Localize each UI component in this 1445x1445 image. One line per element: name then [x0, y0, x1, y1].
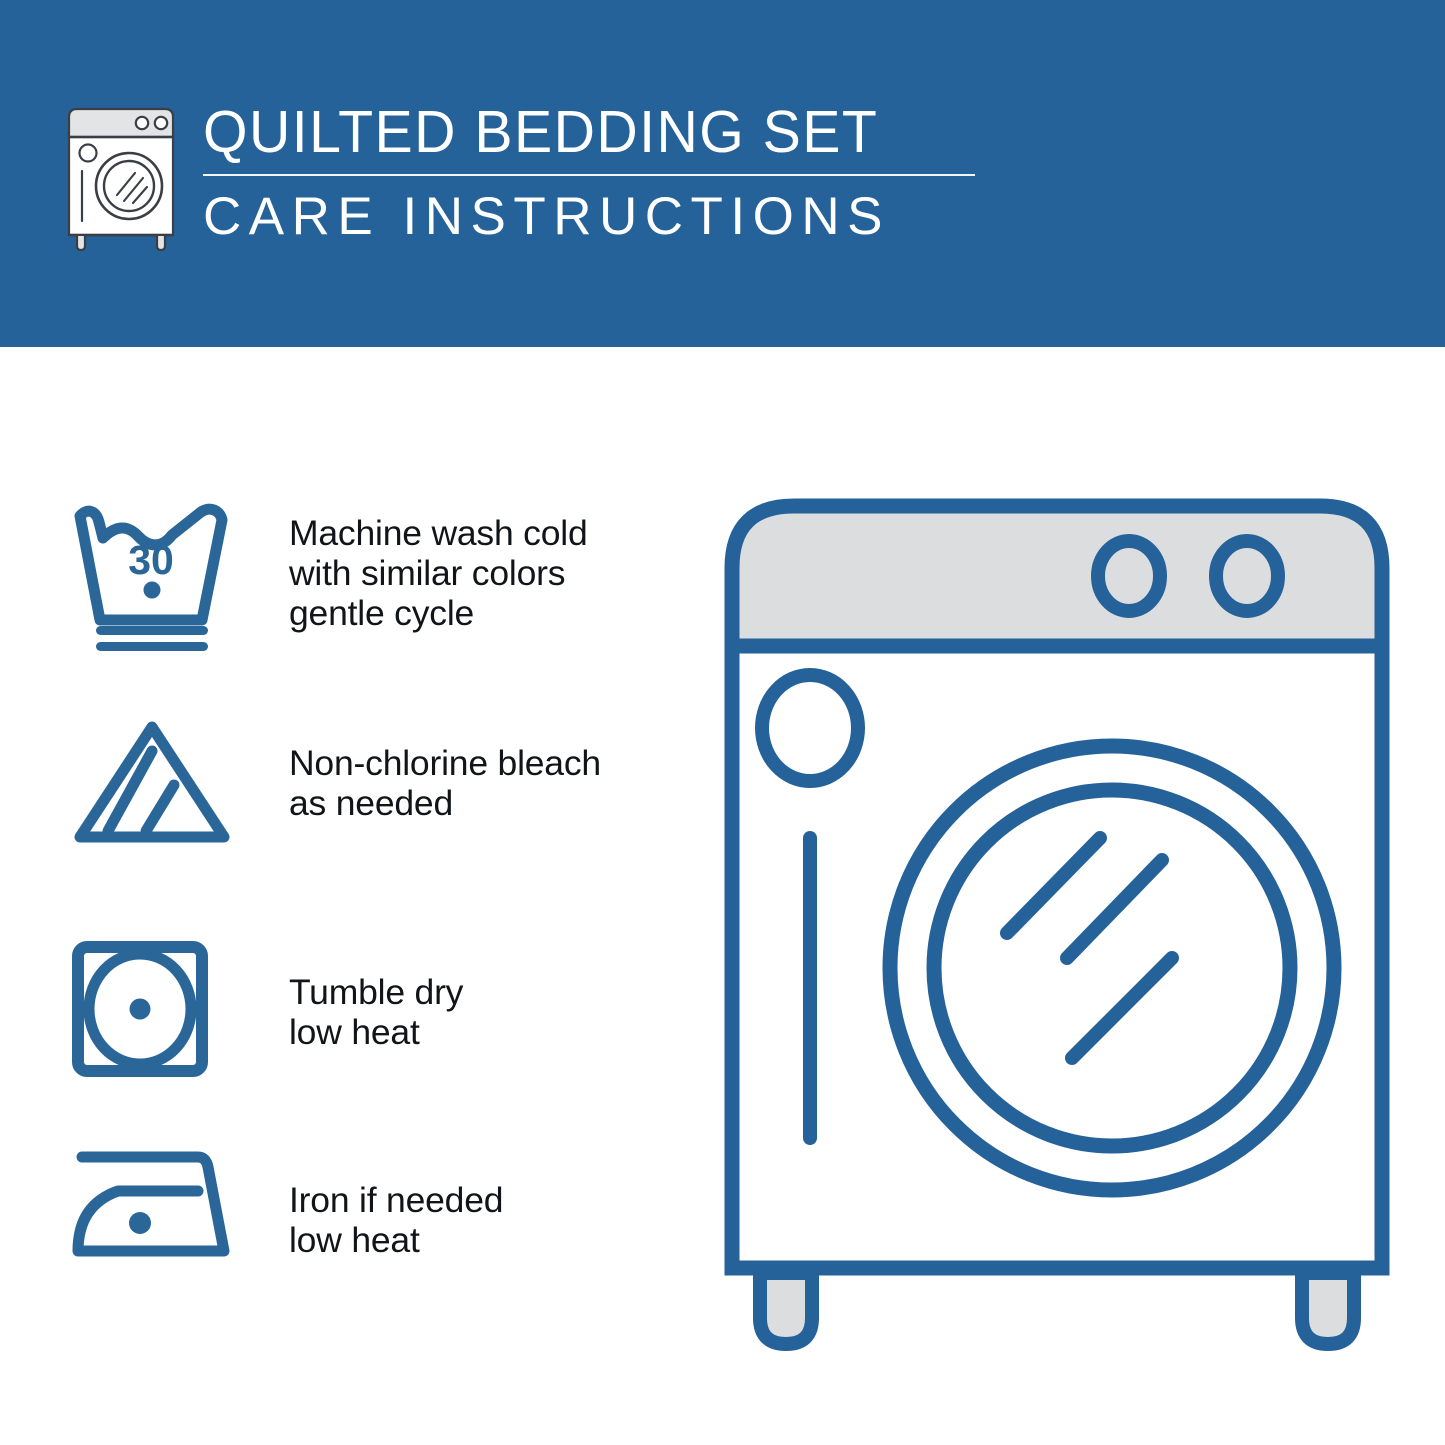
washing-machine-illustration	[712, 478, 1402, 1378]
header-text-block: QUILTED BEDDING SET CARE INSTRUCTIONS	[203, 96, 1023, 250]
care-line: gentle cycle	[289, 593, 588, 633]
iron-low-heat-icon	[70, 1147, 234, 1268]
title-divider	[203, 174, 975, 176]
knob-right	[1216, 541, 1278, 611]
bleach-triangle-icon	[70, 719, 234, 852]
care-line: low heat	[289, 1220, 503, 1260]
care-row-text: Tumble dry low heat	[289, 972, 463, 1052]
leg-right	[1302, 1273, 1354, 1344]
indicator-circle	[762, 675, 858, 781]
care-line: Machine wash cold	[289, 513, 588, 553]
care-line: with similar colors	[289, 553, 588, 593]
washing-machine-icon	[63, 103, 185, 253]
header-banner: QUILTED BEDDING SET CARE INSTRUCTIONS	[0, 0, 1445, 347]
care-line: Iron if needed	[289, 1180, 503, 1220]
care-instructions-page: QUILTED BEDDING SET CARE INSTRUCTIONS 30	[0, 0, 1445, 1445]
care-row-text: Non-chlorine bleach as needed	[289, 743, 601, 823]
care-instruction-list: 30 Machine wash cold with similar colors…	[0, 347, 700, 1445]
tumble-dry-low-icon	[70, 939, 210, 1084]
care-row-text: Machine wash cold with similar colors ge…	[289, 513, 588, 633]
leg-left	[760, 1273, 812, 1344]
care-line: as needed	[289, 783, 601, 823]
wash-basin-30-icon: 30	[70, 502, 234, 657]
page-subtitle: CARE INSTRUCTIONS	[203, 184, 1023, 250]
care-line: low heat	[289, 1012, 463, 1052]
page-title: QUILTED BEDDING SET	[203, 96, 998, 168]
care-line: Tumble dry	[289, 972, 463, 1012]
care-line: Non-chlorine bleach	[289, 743, 601, 783]
care-row-text: Iron if needed low heat	[289, 1180, 503, 1260]
svg-text:30: 30	[128, 537, 174, 583]
door-inner-ring	[934, 790, 1290, 1146]
knob-left	[1098, 541, 1160, 611]
